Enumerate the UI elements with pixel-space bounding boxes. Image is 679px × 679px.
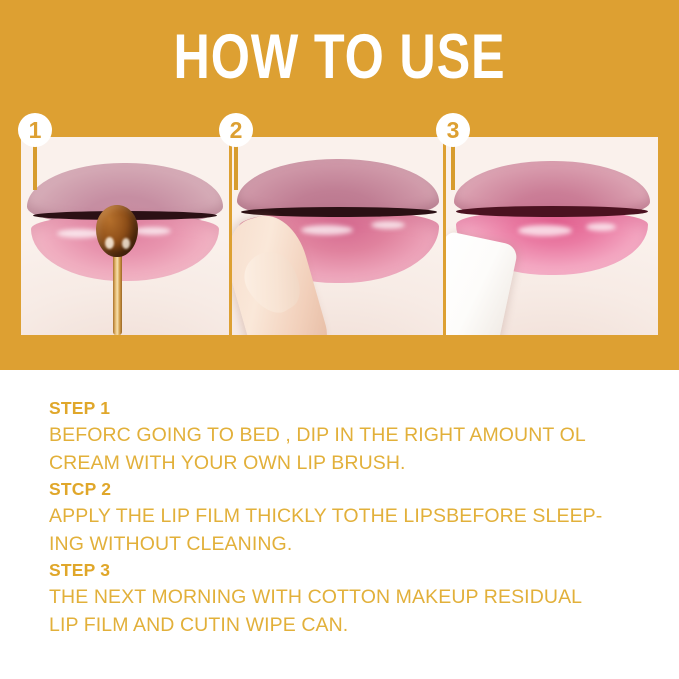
header-banner: HOW TO USE [0,0,679,370]
bead-highlight-a [105,237,114,249]
lip-gloss-highlight-1b [133,227,171,235]
step-photo-3 [446,137,658,335]
lip-gloss-highlight-2b [371,221,405,229]
step-body-3: THE NEXT MORNING WITH COTTON MAKEUP RESI… [49,583,649,639]
step-item-2: STCP 2 APPLY THE LIP FILM THICKLY TOTHE … [49,477,649,558]
step-badge-number-3: 3 [436,113,470,147]
lip-gloss-highlight-3a [518,225,572,236]
step-heading-1: STEP 1 [49,396,649,421]
step-heading-2: STCP 2 [49,477,649,502]
step-badge-number-1: 1 [18,113,52,147]
step-body-2: APPLY THE LIP FILM THICKLY TOTHE LIPSBEF… [49,502,649,558]
lip-brush-bead-icon [96,205,138,257]
bead-highlight-b [122,238,130,249]
step-body-1: BEFORC GOING TO BED , DIP IN THE RIGHT A… [49,421,649,477]
step-item-1: STEP 1 BEFORC GOING TO BED , DIP IN THE … [49,396,649,477]
step-heading-3: STEP 3 [49,558,649,583]
instructions-list: STEP 1 BEFORC GOING TO BED , DIP IN THE … [49,396,649,639]
step-photo-1 [21,137,229,335]
step-item-3: STEP 3 THE NEXT MORNING WITH COTTON MAKE… [49,558,649,639]
mouth-line-3 [456,206,648,217]
page-title: HOW TO USE [68,22,611,92]
step-badge-number-2: 2 [219,113,253,147]
fingernail-icon [235,243,310,322]
step-photo-2 [232,137,443,335]
lip-gloss-highlight-3b [586,223,616,231]
lip-gloss-highlight-2a [301,225,353,235]
lip-brush-handle-icon [113,245,122,335]
how-to-use-photo-strip [21,137,658,335]
